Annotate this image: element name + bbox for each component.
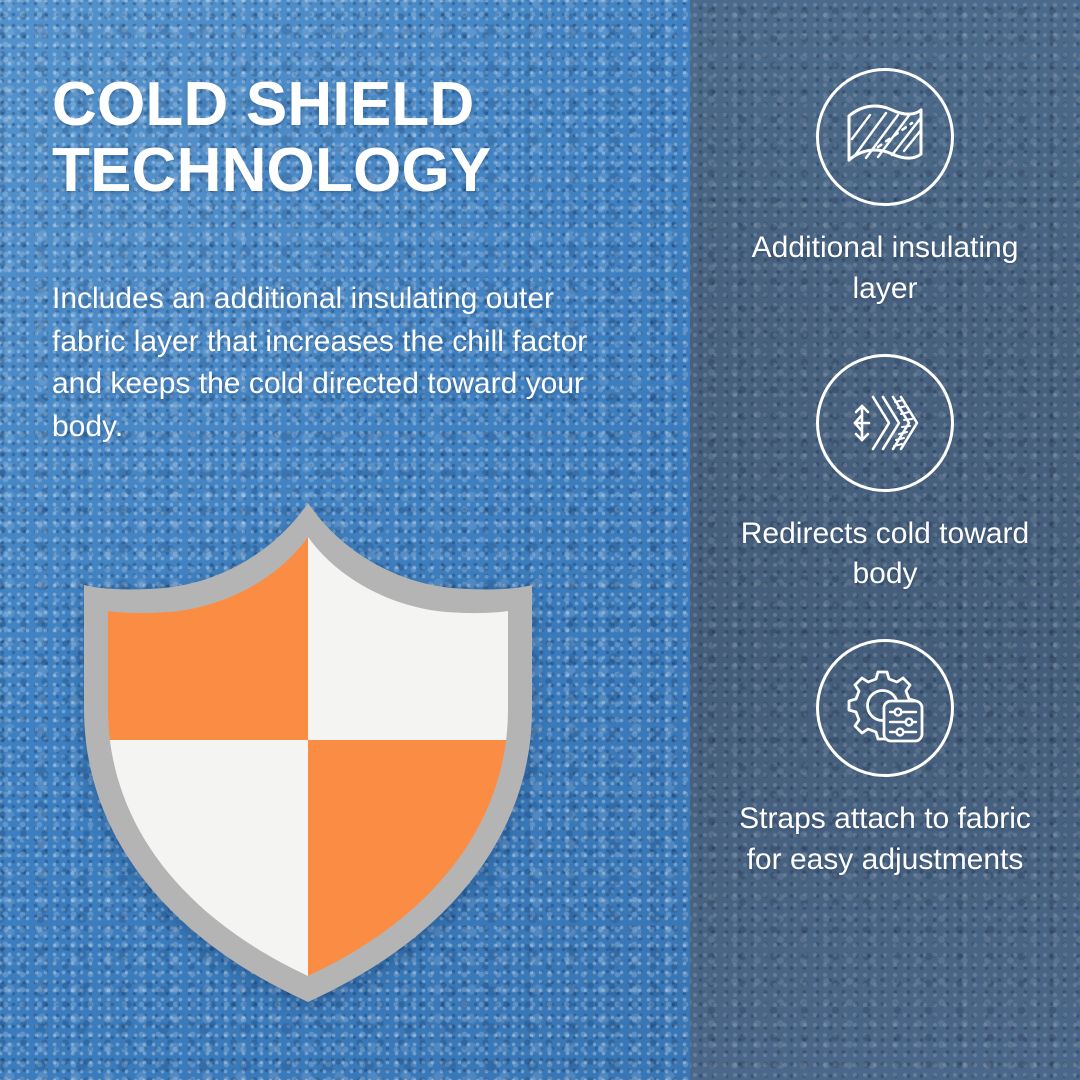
- page-title: COLD SHIELD TECHNOLOGY: [52, 72, 652, 205]
- shield-quadrant-top-left: [78, 495, 308, 740]
- feature-list: Additional insulating layer: [690, 0, 1080, 1080]
- cold-shield-infographic: COLD SHIELD TECHNOLOGY Includes an addit…: [0, 0, 1080, 1080]
- feature-item-redirects-cold: Redirects cold toward body: [690, 354, 1080, 596]
- gear-settings-icon: [816, 639, 954, 777]
- fabric-layer-icon: [816, 68, 954, 206]
- right-panel: Additional insulating layer: [690, 0, 1080, 1080]
- description-text: Includes an additional insulating outer …: [52, 278, 622, 448]
- feature-label: Additional insulating layer: [735, 228, 1035, 310]
- left-panel: COLD SHIELD TECHNOLOGY Includes an addit…: [0, 0, 690, 1080]
- feature-label: Straps attach to fabric for easy adjustm…: [735, 799, 1035, 881]
- shield-graphic: [78, 495, 538, 1010]
- feature-item-insulating-layer: Additional insulating layer: [690, 68, 1080, 310]
- layered-chevron-icon: [816, 354, 954, 492]
- feature-item-adjustable-straps: Straps attach to fabric for easy adjustm…: [690, 639, 1080, 881]
- feature-label: Redirects cold toward body: [735, 514, 1035, 596]
- shield-quadrant-top-right: [308, 495, 538, 740]
